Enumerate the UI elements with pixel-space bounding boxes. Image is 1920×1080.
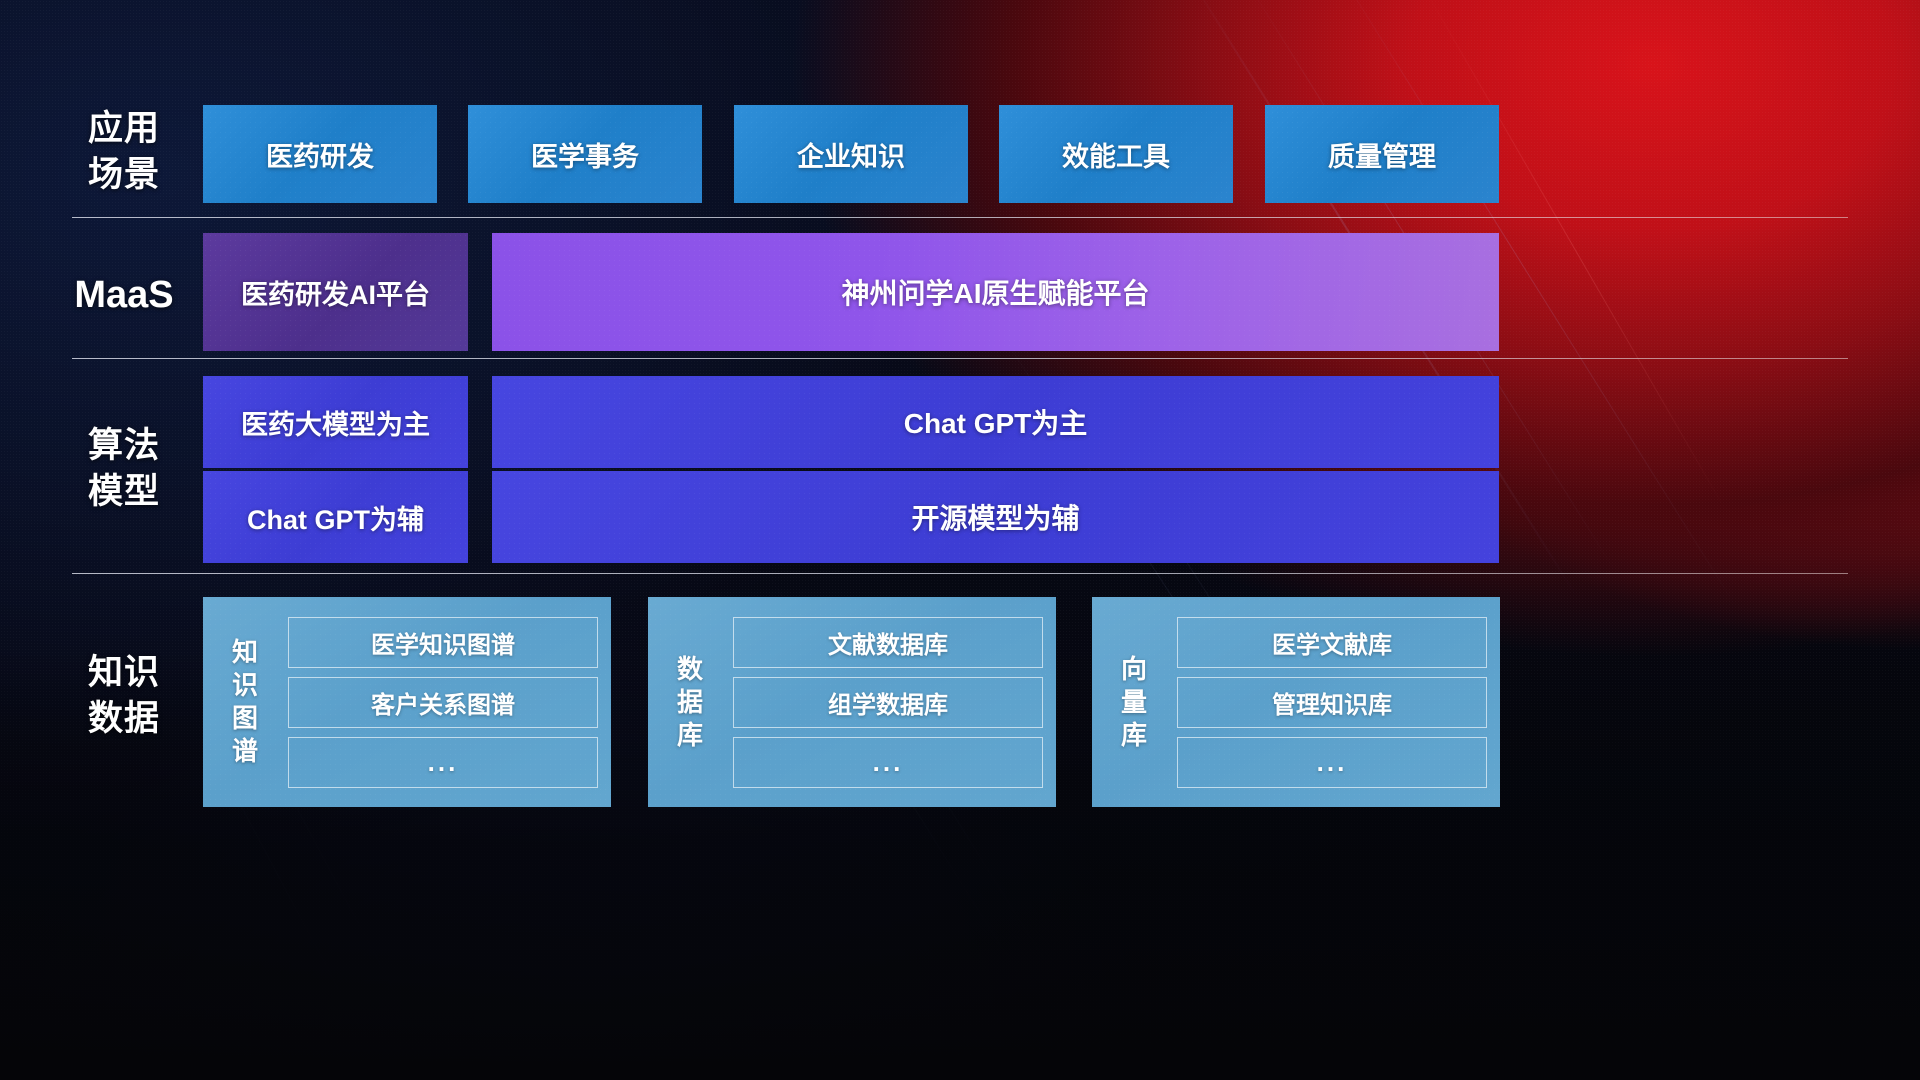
knowledge-item-more[interactable]: ... — [288, 737, 598, 788]
maas-box-label: 医药研发AI平台 — [241, 273, 430, 312]
knowledge-item-list: 文献数据库 组学数据库 ... — [721, 617, 1043, 788]
maas-box-pharma-ai-platform[interactable]: 医药研发AI平台 — [203, 233, 468, 351]
app-box-efficiency-tools[interactable]: 效能工具 — [999, 105, 1233, 203]
app-box-label: 质量管理 — [1328, 135, 1436, 174]
algo-box-label: 医药大模型为主 — [241, 403, 430, 442]
algo-box-chatgpt-secondary[interactable]: Chat GPT为辅 — [203, 471, 468, 563]
algo-box-label: Chat GPT为主 — [904, 402, 1088, 442]
knowledge-item-more[interactable]: ... — [1177, 737, 1487, 788]
knowledge-panel-title: 数 据 库 — [659, 653, 721, 752]
knowledge-item-more[interactable]: ... — [733, 737, 1043, 788]
algo-box-label: 开源模型为辅 — [911, 497, 1079, 537]
knowledge-panel-knowledge-graph[interactable]: 知 识 图 谱 医学知识图谱 客户关系图谱 ... — [203, 597, 611, 807]
divider-maas-algorithm — [72, 358, 1848, 359]
app-box-label: 医学事务 — [531, 135, 639, 174]
algo-box-chatgpt-primary[interactable]: Chat GPT为主 — [492, 376, 1499, 468]
knowledge-panel-vector-store[interactable]: 向 量 库 医学文献库 管理知识库 ... — [1092, 597, 1500, 807]
row-label-algorithm: 算法 模型 — [70, 423, 178, 515]
divider-algorithm-knowledge — [72, 573, 1848, 574]
algo-box-opensource-secondary[interactable]: 开源模型为辅 — [492, 471, 1499, 563]
knowledge-item[interactable]: 组学数据库 — [733, 677, 1043, 728]
row-label-knowledge: 知识 数据 — [70, 650, 178, 742]
knowledge-item-list: 医学知识图谱 客户关系图谱 ... — [276, 617, 598, 788]
maas-box-shenzhou-platform[interactable]: 神州问学AI原生赋能平台 — [492, 233, 1499, 351]
architecture-diagram: 应用 场景 医药研发 医学事务 企业知识 效能工具 质量管理 MaaS 医药研发… — [0, 0, 1920, 1080]
algo-box-pharma-llm-primary[interactable]: 医药大模型为主 — [203, 376, 468, 468]
divider-application-maas — [72, 217, 1848, 218]
app-box-medical-affairs[interactable]: 医学事务 — [468, 105, 702, 203]
knowledge-item[interactable]: 管理知识库 — [1177, 677, 1487, 728]
app-box-label: 医药研发 — [266, 135, 374, 174]
knowledge-item[interactable]: 医学知识图谱 — [288, 617, 598, 668]
knowledge-item[interactable]: 文献数据库 — [733, 617, 1043, 668]
app-box-medicine-rd[interactable]: 医药研发 — [203, 105, 437, 203]
app-box-enterprise-knowledge[interactable]: 企业知识 — [734, 105, 968, 203]
app-box-quality-management[interactable]: 质量管理 — [1265, 105, 1499, 203]
row-label-maas: MaaS — [70, 272, 178, 318]
knowledge-panel-database[interactable]: 数 据 库 文献数据库 组学数据库 ... — [648, 597, 1056, 807]
algo-box-label: Chat GPT为辅 — [247, 498, 424, 537]
app-box-label: 企业知识 — [797, 135, 905, 174]
knowledge-panel-title: 知 识 图 谱 — [214, 636, 276, 768]
app-box-label: 效能工具 — [1062, 135, 1170, 174]
row-label-application: 应用 场景 — [70, 106, 178, 198]
maas-box-label: 神州问学AI原生赋能平台 — [841, 272, 1149, 312]
knowledge-item[interactable]: 医学文献库 — [1177, 617, 1487, 668]
knowledge-panel-title: 向 量 库 — [1103, 653, 1165, 752]
knowledge-item[interactable]: 客户关系图谱 — [288, 677, 598, 728]
knowledge-item-list: 医学文献库 管理知识库 ... — [1165, 617, 1487, 788]
